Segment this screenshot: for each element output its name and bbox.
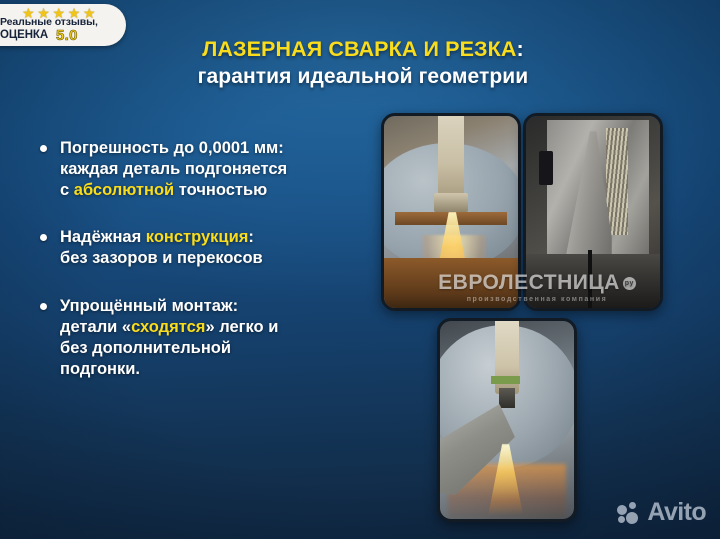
benefit-3-part-4: подгонки. (60, 360, 140, 378)
headline-line-2: гарантия идеальной геометрии (128, 65, 598, 89)
photo-laser-cutting-sparks (381, 113, 521, 311)
photo-1-laser-head (438, 113, 465, 200)
benefit-text-2: Надёжная конструкция: без зазоров и пере… (60, 227, 368, 269)
badge-line-2: ОЦЕНКА (0, 29, 48, 41)
photo-steel-angle-profiles (523, 113, 663, 311)
benefit-3-part-3: без дополнительной (60, 339, 231, 357)
list-item: Упрощённый монтаж: детали «сходятся» лег… (38, 296, 368, 380)
benefit-3-highlight: сходятся (131, 318, 205, 336)
photo-2-content (526, 116, 660, 308)
benefit-2-part-2: без зазоров и перекосов (60, 249, 263, 267)
photo-2-rods (606, 128, 627, 236)
slide-canvas: ★ ★ ★ ★ ★ Реальные отзывы, ОЦЕНКА 5.0 ЛА… (0, 0, 720, 539)
benefits-list: Погрешность до 0,0001 мм: каждая деталь … (38, 138, 368, 406)
headline-colon: : (516, 37, 523, 61)
benefit-1-part-1: Погрешность до 0,0001 мм: (60, 139, 284, 157)
list-item: Погрешность до 0,0001 мм: каждая деталь … (38, 138, 368, 201)
benefit-text-1: Погрешность до 0,0001 мм: каждая деталь … (60, 138, 368, 201)
headline-line-1: ЛАЗЕРНАЯ СВАРКА И РЕЗКА: (128, 38, 598, 62)
photo-1-nozzle (434, 193, 469, 212)
benefit-text-3: Упрощённый монтаж: детали «сходятся» лег… (60, 296, 368, 380)
benefit-2-highlight: конструкция (146, 228, 249, 246)
benefit-1-part-2: каждая деталь подгоняется (60, 160, 287, 178)
avito-dots-icon (617, 502, 642, 524)
bullet-dot-icon (40, 234, 47, 241)
benefit-1-part-3-pre: с (60, 181, 74, 199)
badge-score: 5.0 (56, 27, 78, 44)
photo-2-lower-plate (526, 254, 660, 308)
photo-2-dark-block (539, 151, 552, 186)
rating-badge: ★ ★ ★ ★ ★ Реальные отзывы, ОЦЕНКА 5.0 (0, 4, 126, 46)
photo-laser-head-cutting-plate (437, 318, 577, 522)
benefit-1-highlight: абсолютной (74, 181, 174, 199)
photo-1-floor (384, 258, 518, 308)
badge-line-1: Реальные отзывы, (0, 16, 98, 28)
headline-line-1-text: ЛАЗЕРНАЯ СВАРКА И РЕЗКА (202, 37, 516, 61)
benefit-3-part-2-pre: детали « (60, 318, 131, 336)
benefit-2-part-1-post: : (248, 228, 254, 246)
bullet-dot-icon (40, 303, 47, 310)
avito-wordmark: Avito (647, 500, 706, 525)
bullet-dot-icon (40, 145, 47, 152)
photo-3-content (440, 321, 574, 519)
benefit-2-part-1-pre: Надёжная (60, 228, 146, 246)
headline-block: ЛАЗЕРНАЯ СВАРКА И РЕЗКА: гарантия идеаль… (128, 38, 598, 89)
photo-1-content (384, 116, 518, 308)
avito-logo: Avito (617, 500, 706, 525)
photo-3-green-band (491, 376, 520, 384)
benefit-3-part-2-post: » легко и (205, 318, 278, 336)
photo-2-seam (588, 250, 592, 308)
photo-3-nozzle (499, 388, 515, 408)
list-item: Надёжная конструкция: без зазоров и пере… (38, 227, 368, 269)
benefit-3-part-1: Упрощённый монтаж: (60, 297, 238, 315)
benefit-1-part-3-post: точностью (174, 181, 267, 199)
